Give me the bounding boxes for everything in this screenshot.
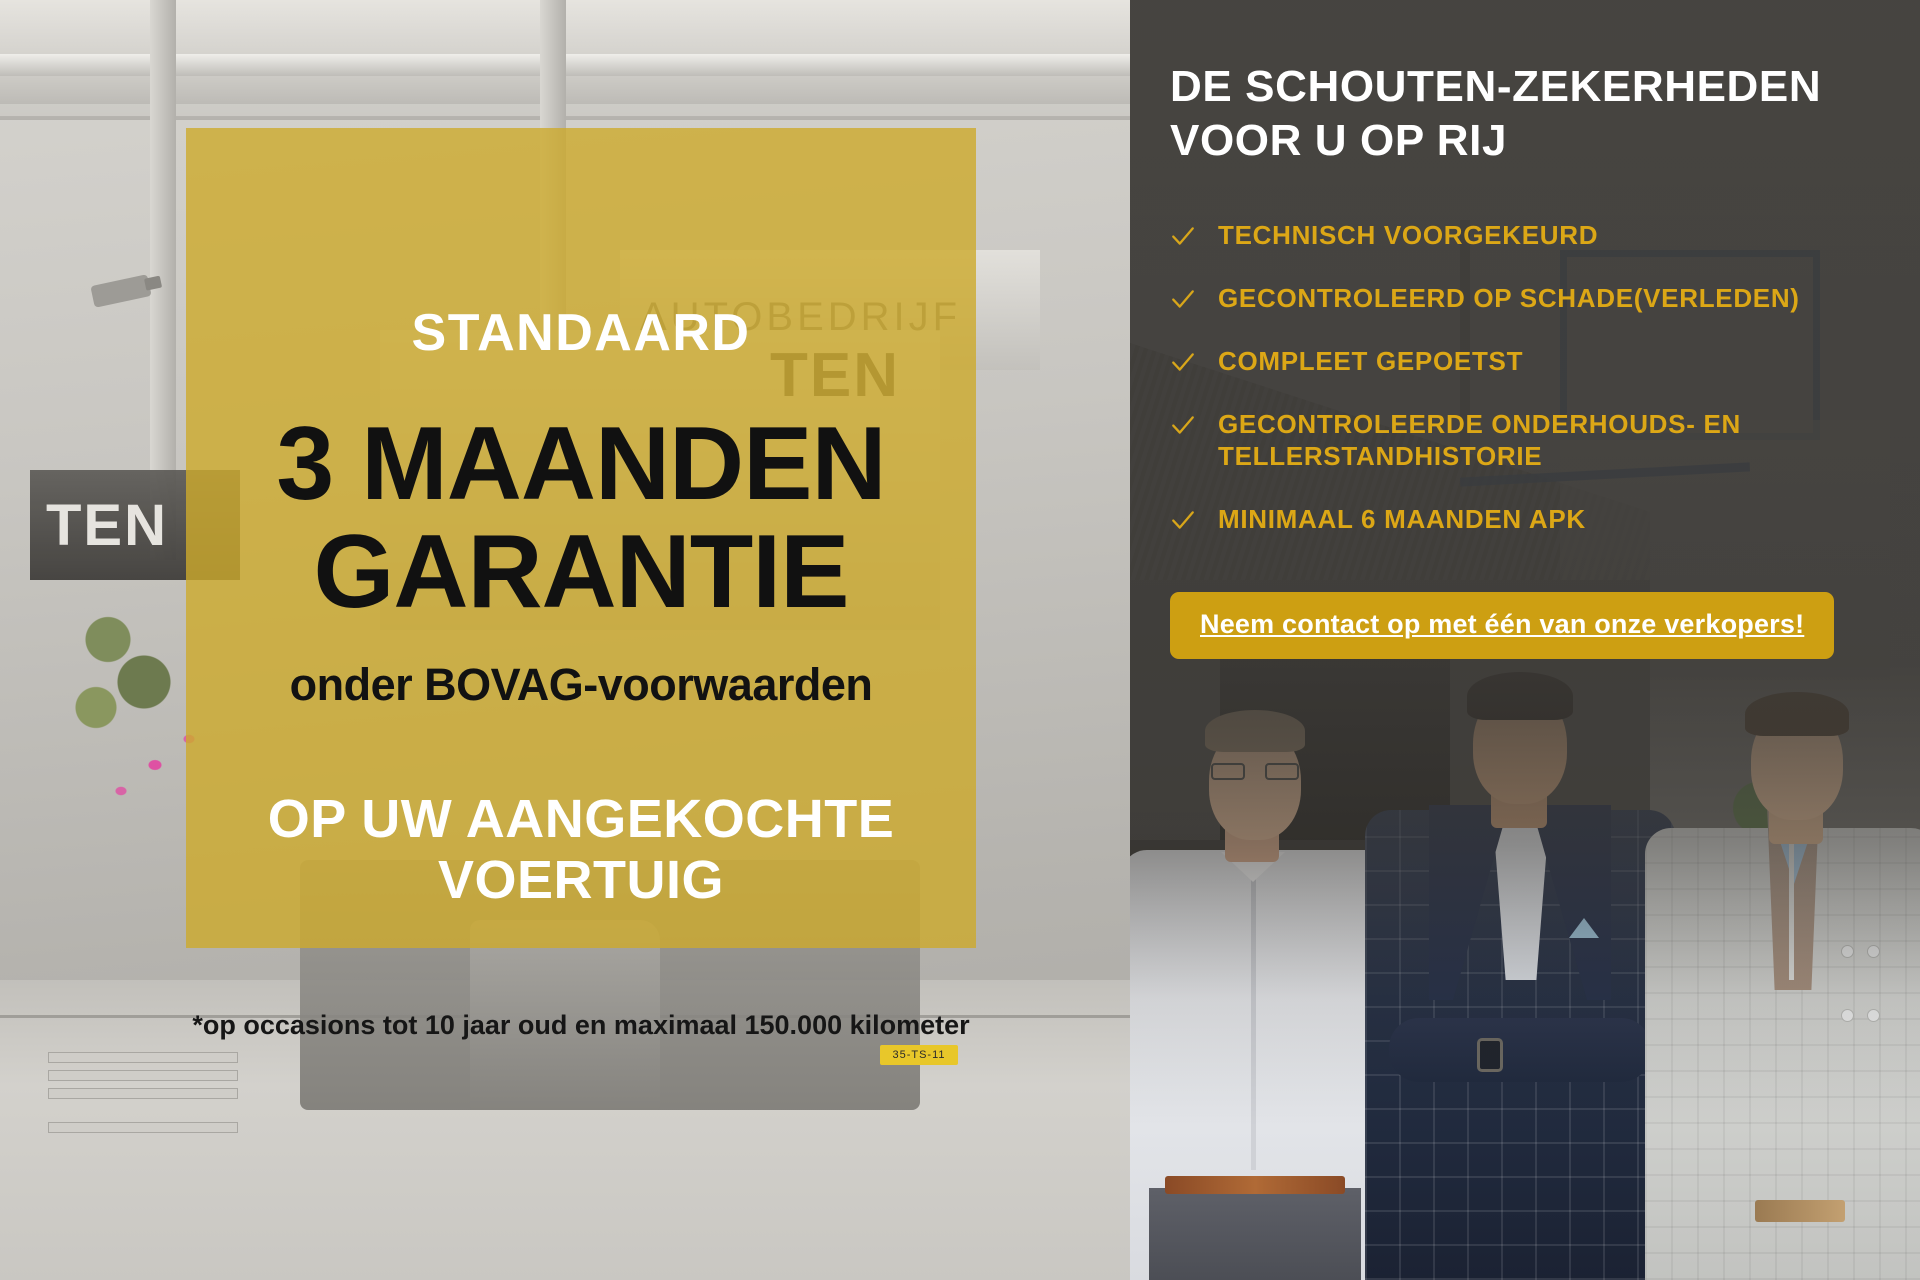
offer-headline-line1: 3 MAANDEN bbox=[186, 411, 976, 517]
checklist-item-label: COMPLEET GEPOETST bbox=[1218, 345, 1523, 378]
checklist-item: MINIMAAL 6 MAANDEN APK bbox=[1170, 503, 1890, 536]
check-icon bbox=[1170, 349, 1196, 375]
checklist-item-label: GECONTROLEERDE ONDERHOUDS- EN TELLERSTAN… bbox=[1218, 408, 1890, 474]
checklist-item: TECHNISCH VOORGEKEURD bbox=[1170, 219, 1890, 252]
offer-footnote: *op occasions tot 10 jaar oud en maximaa… bbox=[186, 1010, 976, 1041]
benefits-checklist: TECHNISCH VOORGEKEURD GECONTROLEERD OP S… bbox=[1170, 219, 1890, 536]
offer-eyebrow: STANDAARD bbox=[186, 303, 976, 363]
check-icon bbox=[1170, 286, 1196, 312]
wall-sign-text: TEN bbox=[46, 492, 168, 559]
checklist-item: GECONTROLEERD OP SCHADE(VERLEDEN) bbox=[1170, 282, 1890, 315]
benefits-column: DE SCHOUTEN-ZEKERHEDEN VOOR U OP RIJ TEC… bbox=[1170, 60, 1890, 659]
offer-subhead: onder BOVAG-voorwaarden bbox=[186, 659, 976, 711]
checklist-item-label: TECHNISCH VOORGEKEURD bbox=[1218, 219, 1598, 252]
checklist-item: COMPLEET GEPOETST bbox=[1170, 345, 1890, 378]
check-icon bbox=[1170, 507, 1196, 533]
left-offer-block: STANDAARD 3 MAANDEN GARANTIE onder BOVAG… bbox=[186, 128, 976, 1138]
contact-cta-button[interactable]: Neem contact op met één van onze verkope… bbox=[1170, 592, 1834, 659]
check-icon bbox=[1170, 412, 1196, 438]
offer-headline-line2: GARANTIE bbox=[186, 519, 976, 625]
check-icon bbox=[1170, 223, 1196, 249]
offer-tagline: OP UW AANGEKOCHTE VOERTUIG bbox=[186, 789, 976, 910]
checklist-item-label: GECONTROLEERD OP SCHADE(VERLEDEN) bbox=[1218, 282, 1800, 315]
promo-banner: AUTOBEDRIJF TEN 35-TS-11 TEN JDR-9 bbox=[0, 0, 1920, 1280]
benefits-title: DE SCHOUTEN-ZEKERHEDEN VOOR U OP RIJ bbox=[1170, 60, 1890, 167]
checklist-item: GECONTROLEERDE ONDERHOUDS- EN TELLERSTAN… bbox=[1170, 408, 1890, 474]
checklist-item-label: MINIMAAL 6 MAANDEN APK bbox=[1218, 503, 1586, 536]
